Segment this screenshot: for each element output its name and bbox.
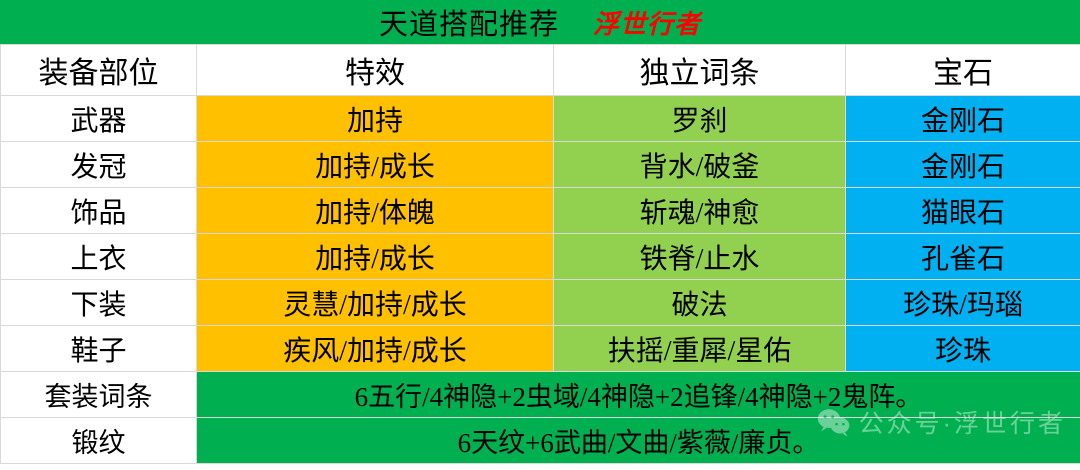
gear-recommendation-table: 装备部位 特效 独立词条 宝石 武器 加持 罗刹 金刚石 发冠 加持/成长 背水… <box>0 44 1080 464</box>
table-row-set-affix: 套装词条 6五行/4神隐+2虫域/4神隐+2追锋/4神隐+2鬼阵。 <box>1 372 1080 418</box>
cell-part: 套装词条 <box>1 372 197 418</box>
cell-effect: 加持/成长 <box>197 142 554 188</box>
column-header-affix: 独立词条 <box>554 45 846 96</box>
column-header-effect: 特效 <box>197 45 554 96</box>
cell-gem: 猫眼石 <box>846 188 1080 234</box>
cell-forge-pattern-value: 6天纹+6武曲/文曲/紫薇/廉贞。 <box>197 418 1080 464</box>
author-name: 浮世行者 <box>593 4 701 41</box>
table-row: 武器 加持 罗刹 金刚石 <box>1 96 1080 142</box>
cell-gem: 金刚石 <box>846 96 1080 142</box>
cell-affix: 罗刹 <box>554 96 846 142</box>
cell-set-affix-value: 6五行/4神隐+2虫域/4神隐+2追锋/4神隐+2鬼阵。 <box>197 372 1080 418</box>
title-bar: 天道搭配推荐 浮世行者 <box>0 0 1080 44</box>
cell-effect: 加持/成长 <box>197 234 554 280</box>
cell-part: 鞋子 <box>1 326 197 372</box>
cell-affix: 铁脊/止水 <box>554 234 846 280</box>
cell-effect: 疾风/加持/成长 <box>197 326 554 372</box>
cell-gem: 金刚石 <box>846 142 1080 188</box>
cell-part: 锻纹 <box>1 418 197 464</box>
cell-affix: 斩魂/神愈 <box>554 188 846 234</box>
cell-part: 武器 <box>1 96 197 142</box>
cell-part: 发冠 <box>1 142 197 188</box>
cell-gem: 珍珠 <box>846 326 1080 372</box>
cell-affix: 背水/破釜 <box>554 142 846 188</box>
cell-gem: 珍珠/玛瑙 <box>846 280 1080 326</box>
table-header-row: 装备部位 特效 独立词条 宝石 <box>1 45 1080 96</box>
table-row: 上衣 加持/成长 铁脊/止水 孔雀石 <box>1 234 1080 280</box>
cell-affix: 扶摇/重犀/星佑 <box>554 326 846 372</box>
cell-gem: 孔雀石 <box>846 234 1080 280</box>
table-row: 饰品 加持/体魄 斩魂/神愈 猫眼石 <box>1 188 1080 234</box>
page-title: 天道搭配推荐 <box>379 1 559 43</box>
cell-effect: 加持/体魄 <box>197 188 554 234</box>
spreadsheet-sheet: 天道搭配推荐 浮世行者 装备部位 特效 独立词条 宝石 武器 加持 罗刹 金刚石… <box>0 0 1080 470</box>
cell-part: 上衣 <box>1 234 197 280</box>
column-header-gem: 宝石 <box>846 45 1080 96</box>
table-row: 发冠 加持/成长 背水/破釜 金刚石 <box>1 142 1080 188</box>
table-row: 鞋子 疾风/加持/成长 扶摇/重犀/星佑 珍珠 <box>1 326 1080 372</box>
cell-effect: 灵慧/加持/成长 <box>197 280 554 326</box>
cell-affix: 破法 <box>554 280 846 326</box>
cell-part: 饰品 <box>1 188 197 234</box>
column-header-part: 装备部位 <box>1 45 197 96</box>
cell-part: 下装 <box>1 280 197 326</box>
table-row: 下装 灵慧/加持/成长 破法 珍珠/玛瑙 <box>1 280 1080 326</box>
table-row-forge-pattern: 锻纹 6天纹+6武曲/文曲/紫薇/廉贞。 <box>1 418 1080 464</box>
cell-effect: 加持 <box>197 96 554 142</box>
